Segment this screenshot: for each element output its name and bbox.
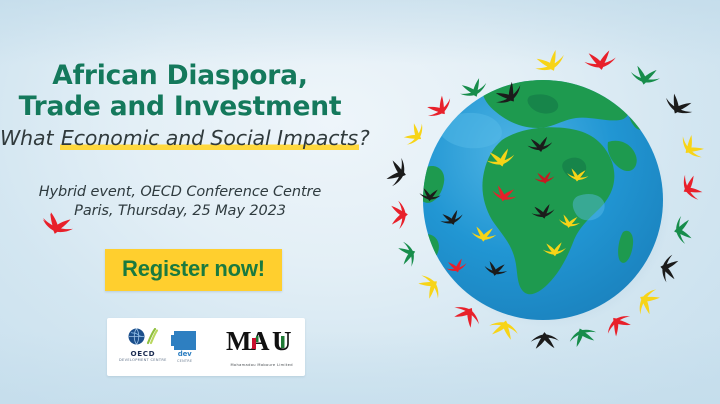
oecd-subtitle: DEVELOPMENT CENTRE bbox=[119, 358, 167, 363]
mau-letters-icon: M A U bbox=[226, 327, 298, 355]
development-centre-mark: dev CENTRE bbox=[174, 331, 196, 364]
subtitle-highlight: Economic and Social Impacts bbox=[60, 126, 359, 150]
svg-text:M: M bbox=[226, 327, 251, 355]
oecd-globe-icon bbox=[128, 328, 145, 349]
development-subtitle: CENTRE bbox=[177, 359, 192, 364]
headline-line-2: Trade and Investment bbox=[0, 91, 360, 122]
event-details: Hybrid event, OECD Conference Centre Par… bbox=[0, 183, 360, 221]
oecd-wordmark: OECD bbox=[131, 350, 156, 358]
mau-logo: M A U Mohamadou Maboure Limited bbox=[226, 327, 298, 368]
logo-strip: OECD DEVELOPMENT CENTRE dev CENTRE M A U bbox=[107, 318, 305, 376]
page-title: African Diaspora, Trade and Investment bbox=[0, 60, 360, 122]
subtitle: What Economic and Social Impacts? bbox=[0, 126, 360, 150]
subtitle-suffix: ? bbox=[359, 126, 370, 150]
oecd-swoosh-icon bbox=[146, 328, 158, 349]
headline-line-1: African Diaspora, bbox=[52, 60, 307, 91]
development-wordmark: dev bbox=[178, 350, 192, 359]
subtitle-prefix: What bbox=[0, 126, 60, 150]
event-venue: Hybrid event, OECD Conference Centre bbox=[0, 183, 360, 202]
oecd-development-centre-logo: OECD DEVELOPMENT CENTRE dev CENTRE bbox=[119, 331, 196, 364]
development-square-icon bbox=[174, 331, 196, 350]
mau-wordmark: M A U bbox=[226, 327, 298, 361]
register-now-button[interactable]: Register now! bbox=[105, 249, 282, 291]
event-date: Paris, Thursday, 25 May 2023 bbox=[0, 202, 360, 221]
poster-canvas: African Diaspora, Trade and Investment W… bbox=[0, 0, 720, 404]
mau-subtitle: Mohamadou Maboure Limited bbox=[230, 362, 292, 368]
text-column: African Diaspora, Trade and Investment W… bbox=[0, 0, 392, 404]
globe-artwork bbox=[380, 0, 720, 404]
